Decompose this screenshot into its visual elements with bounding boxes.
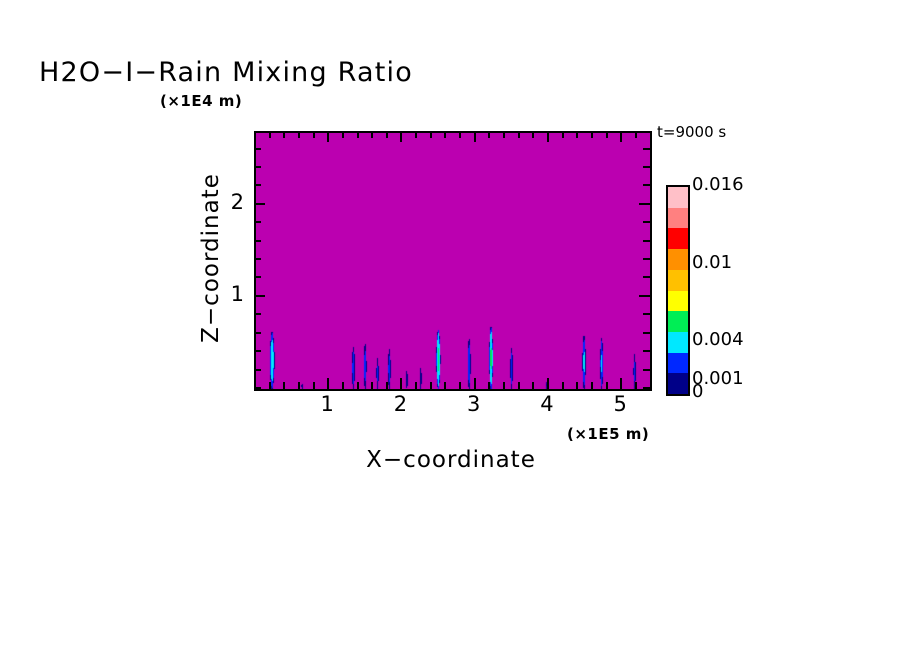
y-tick-right xyxy=(643,332,650,334)
x-tick-top xyxy=(518,131,520,138)
x-tick-bottom xyxy=(371,382,373,389)
x-tick-top xyxy=(635,131,637,138)
x-tick-top xyxy=(474,131,476,142)
x-tick-top xyxy=(532,131,534,138)
y-tick-right xyxy=(643,184,650,186)
x-axis-title: X−coordinate xyxy=(254,447,648,473)
x-tick-bottom xyxy=(430,382,432,389)
x-tick-bottom xyxy=(386,382,388,389)
x-tick-bottom xyxy=(474,378,476,389)
colorbar-band xyxy=(668,291,688,312)
x-tick-bottom xyxy=(342,382,344,389)
y-tick-right xyxy=(639,295,650,297)
y-tick-right xyxy=(643,276,650,278)
colorbar-band xyxy=(668,373,688,394)
x-tick-top xyxy=(591,131,593,138)
x-tick-top xyxy=(503,131,505,138)
colorbar-band xyxy=(668,332,688,353)
x-tick-bottom xyxy=(620,378,622,389)
x-tick-top xyxy=(459,131,461,138)
colorbar-tick-label: 0.004 xyxy=(692,329,744,350)
x-tick-top xyxy=(444,131,446,138)
page-title: H2O−I−Rain Mixing Ratio xyxy=(0,57,904,88)
x-tick-bottom xyxy=(547,378,549,389)
x-tick-bottom xyxy=(562,382,564,389)
y-tick-right xyxy=(643,369,650,371)
colorbar-band xyxy=(668,228,688,249)
y-tick-right xyxy=(643,387,650,389)
x-tick-bottom xyxy=(635,382,637,389)
colorbar-tick-label: 0.01 xyxy=(692,252,732,273)
y-tick-right xyxy=(643,148,650,150)
figure-canvas: H2O−I−Rain Mixing Ratio (×1E4 m) (×1E5 m… xyxy=(0,0,904,654)
x-tick-bottom xyxy=(357,382,359,389)
x-tick-top xyxy=(400,131,402,142)
colorbar-band xyxy=(668,270,688,291)
y-tick-right xyxy=(643,221,650,223)
y-tick-right xyxy=(643,258,650,260)
colorbar-band xyxy=(668,208,688,229)
x-tick-label: 5 xyxy=(600,392,640,416)
y-tick-right xyxy=(643,240,650,242)
colorbar-band xyxy=(668,249,688,270)
x-tick-top xyxy=(606,131,608,138)
y-tick-right xyxy=(643,350,650,352)
x-tick-top xyxy=(547,131,549,142)
y-tick-right xyxy=(643,313,650,315)
x-tick-label: 1 xyxy=(307,392,347,416)
x-tick-top xyxy=(620,131,622,142)
x-tick-bottom xyxy=(459,382,461,389)
x-tick-bottom xyxy=(444,382,446,389)
y-axis-title: Z−coordinate xyxy=(81,128,341,388)
colorbar-tick-label: 0.016 xyxy=(692,174,744,195)
x-tick-top xyxy=(430,131,432,138)
x-tick-bottom xyxy=(503,382,505,389)
x-tick-top xyxy=(386,131,388,138)
x-tick-top xyxy=(342,131,344,138)
x-tick-top xyxy=(357,131,359,138)
time-annotation: t=9000 s xyxy=(657,123,726,141)
x-tick-bottom xyxy=(415,382,417,389)
colorbar-tick-label: 0 xyxy=(692,381,703,402)
colorbar xyxy=(666,185,690,396)
x-tick-bottom xyxy=(576,382,578,389)
x-tick-top xyxy=(562,131,564,138)
y-tick-right xyxy=(643,166,650,168)
y-tick-right xyxy=(639,203,650,205)
x-tick-bottom xyxy=(488,382,490,389)
z-axis-unit-label: (×1E4 m) xyxy=(160,92,242,110)
x-tick-bottom xyxy=(532,382,534,389)
x-tick-label: 2 xyxy=(380,392,420,416)
colorbar-band xyxy=(668,353,688,374)
x-tick-top xyxy=(576,131,578,138)
x-tick-bottom xyxy=(591,382,593,389)
x-tick-bottom xyxy=(400,378,402,389)
x-tick-top xyxy=(488,131,490,138)
x-axis-unit-label: (×1E5 m) xyxy=(567,425,649,443)
x-tick-top xyxy=(415,131,417,138)
x-tick-bottom xyxy=(518,382,520,389)
x-tick-top xyxy=(371,131,373,138)
x-tick-label: 3 xyxy=(454,392,494,416)
colorbar-band xyxy=(668,311,688,332)
x-tick-bottom xyxy=(606,382,608,389)
x-tick-label: 4 xyxy=(527,392,567,416)
colorbar-band xyxy=(668,187,688,208)
